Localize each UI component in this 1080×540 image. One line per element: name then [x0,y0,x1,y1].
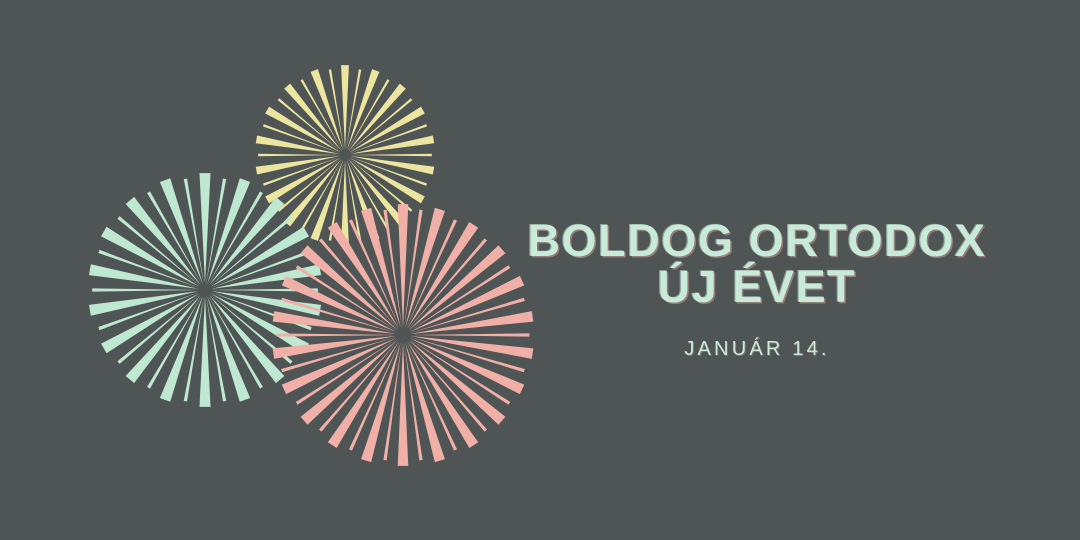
firework-ray [348,84,406,152]
date-subtitle: JANUÁR 14. [497,310,1017,361]
firework-ray [258,154,340,156]
firework-ray [277,333,396,336]
headline-line-1: BOLDOG ORTODOX [497,218,1017,264]
firework-ray [284,84,342,152]
headline-line-2: ÚJ ÉVET [497,264,1017,310]
pink-firework [268,200,538,470]
firework-ray [350,154,432,156]
firework-ray [92,288,198,291]
firework-ray [126,197,201,285]
firework-ray [410,333,529,336]
firework-ray [126,295,201,383]
greeting-text-block: BOLDOG ORTODOX ÚJ ÉVET JANUÁR 14. [497,218,1017,361]
greeting-card-canvas: BOLDOG ORTODOX ÚJ ÉVET JANUÁR 14. [0,0,1080,540]
firework-ray [341,65,349,150]
